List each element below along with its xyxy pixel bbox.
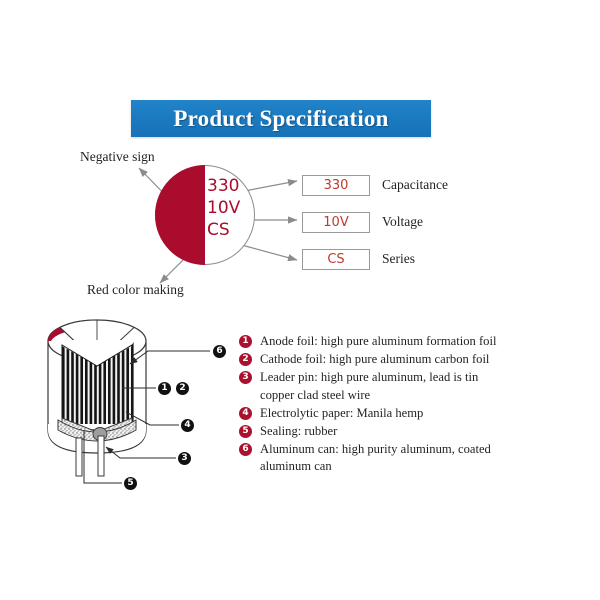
legend-badge-6: 6	[239, 443, 252, 456]
legend-badge-1: 1	[239, 335, 252, 348]
legend-item-2: 2 Cathode foil: high pure aluminum carbo…	[239, 351, 589, 368]
legend-text-2: Cathode foil: high pure aluminum carbon …	[260, 351, 589, 368]
spec-name-series: Series	[382, 251, 415, 267]
legend-badge-4: 4	[239, 407, 252, 420]
callout-4: 4	[181, 419, 194, 432]
legend-badge-5: 5	[239, 425, 252, 438]
callout-6: 6	[213, 345, 226, 358]
legend-text-3-cont: copper clad steel wire	[260, 387, 589, 404]
marking-print: 330 10V CS	[207, 175, 259, 241]
title-banner: Product Specification	[131, 100, 431, 137]
capacitor-cutaway-illustration	[0, 0, 600, 600]
spec-name-voltage: Voltage	[382, 214, 423, 230]
marking-line-voltage: 10V	[207, 197, 259, 219]
spec-name-capacitance: Capacitance	[382, 177, 448, 193]
marking-line-series: CS	[207, 219, 259, 241]
legend-text-6: Aluminum can: high purity aluminum, coat…	[260, 441, 589, 458]
red-color-marking-label: Red color making	[87, 282, 184, 298]
page-root: Product Specification 330 10V CS	[0, 0, 600, 600]
callout-2: 2	[176, 382, 189, 395]
callout-5: 5	[124, 477, 137, 490]
legend-item-5: 5 Sealing: rubber	[239, 423, 589, 440]
legend-item-3: 3 Leader pin: high pure aluminum, lead i…	[239, 369, 589, 403]
legend-item-1: 1 Anode foil: high pure aluminum formati…	[239, 333, 589, 350]
spec-value-box-capacitance: 330	[302, 175, 370, 196]
marking-line-capacitance: 330	[207, 175, 259, 197]
legend-text-4: Electrolytic paper: Manila hemp	[260, 405, 589, 422]
upper-leader-lines	[0, 0, 600, 600]
callout-3: 3	[178, 452, 191, 465]
negative-sign-label: Negative sign	[80, 149, 155, 165]
callout-1: 1	[158, 382, 171, 395]
spec-value-box-series: CS	[302, 249, 370, 270]
legend-item-6: 6 Aluminum can: high purity aluminum, co…	[239, 441, 589, 475]
legend-text-3: Leader pin: high pure aluminum, lead is …	[260, 369, 589, 386]
legend-badge-3: 3	[239, 371, 252, 384]
negative-red-half	[155, 165, 205, 265]
legend-text-5: Sealing: rubber	[260, 423, 589, 440]
capacitor-top-view: 330 10V CS	[155, 165, 257, 267]
legend-text-1: Anode foil: high pure aluminum formation…	[260, 333, 589, 350]
page-title: Product Specification	[131, 100, 431, 137]
legend-item-4: 4 Electrolytic paper: Manila hemp	[239, 405, 589, 422]
spec-value-box-voltage: 10V	[302, 212, 370, 233]
legend-list: 1 Anode foil: high pure aluminum formati…	[239, 333, 589, 477]
legend-badge-2: 2	[239, 353, 252, 366]
legend-text-6-cont: aluminum can	[260, 458, 589, 475]
